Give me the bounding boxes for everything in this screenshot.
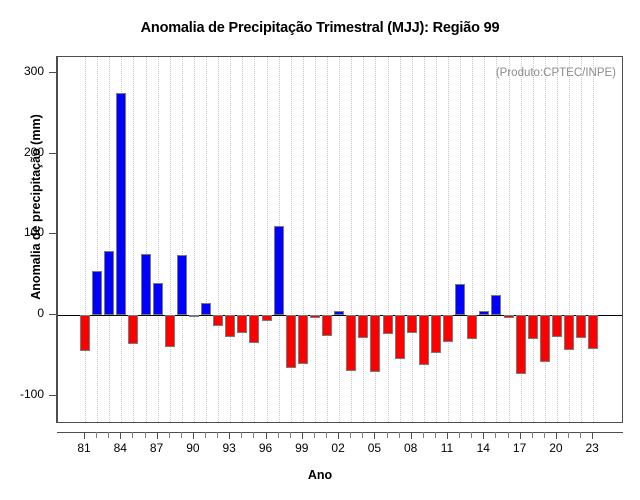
bar-12 xyxy=(455,284,465,315)
bar-19 xyxy=(540,315,550,362)
grid-line xyxy=(557,57,558,422)
grid-line xyxy=(363,57,364,422)
x-tick-label: 08 xyxy=(391,441,431,455)
grid-line xyxy=(327,57,328,422)
x-tick xyxy=(84,432,85,439)
bar-88 xyxy=(165,315,175,346)
x-tick-label: 14 xyxy=(463,441,503,455)
x-tick xyxy=(96,432,97,438)
bar-10 xyxy=(431,315,441,353)
bar-93 xyxy=(225,315,235,337)
x-tick xyxy=(411,432,412,439)
bar-92 xyxy=(213,315,223,326)
bar-04 xyxy=(358,315,368,338)
grid-line xyxy=(254,57,255,422)
x-tick xyxy=(241,432,242,438)
x-tick xyxy=(193,432,194,439)
grid-line xyxy=(581,57,582,422)
bar-95 xyxy=(249,315,259,342)
bar-09 xyxy=(419,315,429,365)
source-annotation: (Produto:CPTEC/INPE) xyxy=(496,67,616,79)
x-tick-label: 20 xyxy=(536,441,576,455)
y-tick-label: 200 xyxy=(0,145,44,159)
bar-11 xyxy=(443,315,453,342)
grid-line xyxy=(593,57,594,422)
x-tick-label: 99 xyxy=(282,441,322,455)
grid-line xyxy=(242,57,243,422)
x-tick xyxy=(374,432,375,439)
x-tick xyxy=(205,432,206,438)
bar-81 xyxy=(80,315,90,351)
grid-line xyxy=(339,57,340,422)
bar-85 xyxy=(128,315,138,344)
x-tick-label: 11 xyxy=(427,441,467,455)
bar-83 xyxy=(104,251,114,315)
bar-98 xyxy=(286,315,296,367)
x-tick-label: 87 xyxy=(137,441,177,455)
x-tick xyxy=(399,432,400,438)
x-tick xyxy=(157,432,158,439)
x-tick xyxy=(108,432,109,438)
x-tick xyxy=(145,432,146,438)
bar-16 xyxy=(504,315,514,317)
grid-line xyxy=(545,57,546,422)
x-tick xyxy=(217,432,218,438)
grid-line xyxy=(315,57,316,422)
bar-23 xyxy=(588,315,598,349)
bar-87 xyxy=(153,283,163,315)
grid-line xyxy=(412,57,413,422)
bar-15 xyxy=(491,295,501,315)
grid-line xyxy=(109,57,110,422)
x-tick xyxy=(459,432,460,438)
y-tick xyxy=(49,314,56,315)
x-tick xyxy=(387,432,388,438)
x-tick xyxy=(568,432,569,438)
x-tick xyxy=(423,432,424,438)
x-tick xyxy=(350,432,351,438)
grid-line xyxy=(436,57,437,422)
y-tick xyxy=(49,395,56,396)
y-tick xyxy=(49,72,56,73)
x-tick xyxy=(520,432,521,439)
bar-22 xyxy=(576,315,586,338)
x-tick-label: 17 xyxy=(500,441,540,455)
bar-08 xyxy=(407,315,417,333)
grid-line xyxy=(484,57,485,422)
bar-14 xyxy=(479,311,489,315)
x-tick xyxy=(556,432,557,439)
x-tick xyxy=(302,432,303,439)
x-tick xyxy=(229,432,230,439)
grid-line xyxy=(133,57,134,422)
bar-84 xyxy=(116,93,126,315)
bar-20 xyxy=(552,315,562,337)
grid-line xyxy=(206,57,207,422)
bar-91 xyxy=(201,303,211,315)
grid-line xyxy=(569,57,570,422)
bar-86 xyxy=(141,254,151,315)
grid-line xyxy=(509,57,510,422)
x-tick xyxy=(338,432,339,439)
plot-area: (Produto:CPTEC/INPE) xyxy=(57,56,623,423)
grid-line xyxy=(472,57,473,422)
x-tick-label: 90 xyxy=(173,441,213,455)
grid-line xyxy=(194,57,195,422)
x-tick-label: 84 xyxy=(100,441,140,455)
grid-line xyxy=(97,57,98,422)
bar-18 xyxy=(528,315,538,338)
y-tick xyxy=(49,153,56,154)
bar-03 xyxy=(346,315,356,371)
grid-line xyxy=(218,57,219,422)
bar-96 xyxy=(262,315,272,321)
x-tick xyxy=(362,432,363,438)
chart-title: Anomalia de Precipitação Trimestral (MJJ… xyxy=(0,20,640,36)
x-tick xyxy=(120,432,121,439)
grid-line xyxy=(182,57,183,422)
x-tick-label: 81 xyxy=(64,441,104,455)
x-tick xyxy=(592,432,593,439)
grid-line xyxy=(460,57,461,422)
x-tick xyxy=(544,432,545,438)
x-tick xyxy=(278,432,279,438)
bar-01 xyxy=(322,315,332,336)
grid-line xyxy=(267,57,268,422)
y-tick-label: 300 xyxy=(0,64,44,78)
x-tick xyxy=(290,432,291,438)
bar-89 xyxy=(177,255,187,315)
x-tick xyxy=(483,432,484,439)
bar-06 xyxy=(383,315,393,334)
x-tick xyxy=(132,432,133,438)
x-tick xyxy=(326,432,327,438)
x-axis-label: Ano xyxy=(0,468,640,482)
bar-00 xyxy=(310,315,320,318)
y-axis-label: Anomalia de precipitação (mm) xyxy=(29,67,43,347)
x-tick-label: 23 xyxy=(572,441,612,455)
x-tick-label: 02 xyxy=(318,441,358,455)
x-tick xyxy=(495,432,496,438)
x-axis-line xyxy=(57,432,623,433)
x-tick xyxy=(447,432,448,439)
bar-99 xyxy=(298,315,308,363)
y-tick xyxy=(49,233,56,234)
x-tick-label: 96 xyxy=(246,441,286,455)
x-tick xyxy=(471,432,472,438)
bar-05 xyxy=(370,315,380,372)
x-tick-label: 93 xyxy=(209,441,249,455)
grid-line xyxy=(388,57,389,422)
chart-page: Anomalia de Precipitação Trimestral (MJJ… xyxy=(0,0,640,500)
x-tick xyxy=(266,432,267,439)
bar-97 xyxy=(274,226,284,315)
bar-82 xyxy=(92,271,102,315)
grid-line xyxy=(85,57,86,422)
x-tick xyxy=(253,432,254,438)
grid-line xyxy=(400,57,401,422)
grid-line xyxy=(158,57,159,422)
grid-line xyxy=(303,57,304,422)
grid-line xyxy=(146,57,147,422)
bar-17 xyxy=(516,315,526,374)
x-tick-label: 05 xyxy=(354,441,394,455)
bar-02 xyxy=(334,311,344,315)
x-tick xyxy=(169,432,170,438)
bar-07 xyxy=(395,315,405,359)
bar-13 xyxy=(467,315,477,338)
x-tick xyxy=(314,432,315,438)
grid-line xyxy=(230,57,231,422)
y-tick-label: 0 xyxy=(0,306,44,320)
x-tick xyxy=(532,432,533,438)
x-tick xyxy=(435,432,436,438)
bar-90 xyxy=(189,315,199,317)
grid-line xyxy=(170,57,171,422)
grid-line xyxy=(533,57,534,422)
y-tick-label: 100 xyxy=(0,225,44,239)
bar-94 xyxy=(237,315,247,333)
x-tick xyxy=(508,432,509,438)
grid-line xyxy=(496,57,497,422)
x-tick xyxy=(580,432,581,438)
grid-line xyxy=(424,57,425,422)
y-tick-label: -100 xyxy=(0,387,44,401)
grid-line xyxy=(448,57,449,422)
x-tick xyxy=(181,432,182,438)
bar-21 xyxy=(564,315,574,350)
